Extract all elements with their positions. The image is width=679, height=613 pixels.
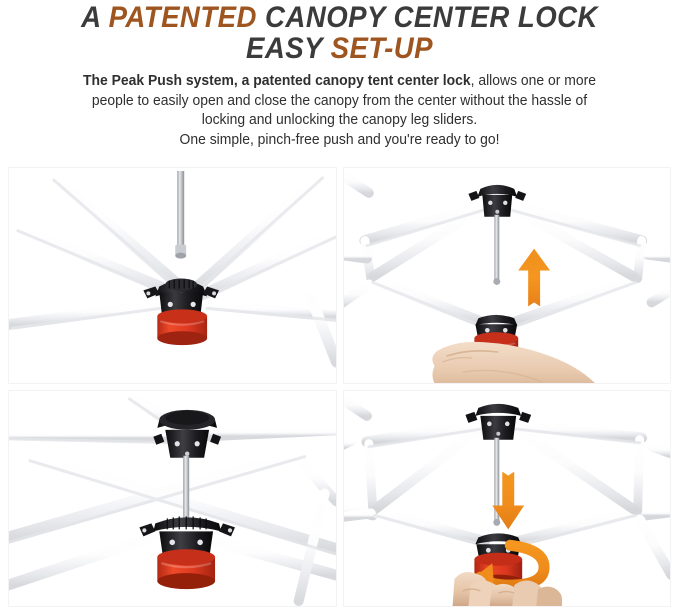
feature-image-grid: [8, 167, 671, 607]
headline-line2-prefix: EASY: [246, 32, 331, 65]
panel-top-left-illustration: [8, 167, 337, 384]
panel-bottom-right: [343, 390, 672, 607]
headline-line1-prefix: A: [81, 1, 108, 34]
headline-line1-suffix: CANOPY CENTER LOCK: [257, 1, 598, 34]
panel-top-right-illustration: [343, 167, 672, 384]
description-line-3: locking and unlocking the canopy leg sli…: [39, 111, 641, 131]
panel-bottom-left: [8, 390, 337, 607]
headline-accent-setup: SET-UP: [331, 32, 433, 65]
product-feature-graphic: A PATENTED CANOPY CENTER LOCK EASY SET-U…: [0, 0, 679, 613]
description-line-4: One simple, pinch-free push and you're r…: [39, 131, 641, 151]
headline-accent-patented: PATENTED: [109, 1, 257, 34]
description-line1-rest: , allows one or more: [471, 73, 596, 89]
panel-top-left: [8, 167, 337, 384]
panel-top-right: [343, 167, 672, 384]
headline-line-1: A PATENTED CANOPY CENTER LOCK: [27, 2, 652, 33]
page-title: A PATENTED CANOPY CENTER LOCK EASY SET-U…: [27, 0, 652, 64]
panel-bottom-left-illustration: [8, 390, 337, 607]
description-line-2: people to easily open and close the cano…: [39, 92, 641, 112]
description-line1-bold: The Peak Push system, a patented canopy …: [83, 73, 471, 89]
panel-bottom-right-illustration: [343, 390, 672, 607]
description-line-1: The Peak Push system, a patented canopy …: [39, 72, 641, 92]
description-paragraph: The Peak Push system, a patented canopy …: [14, 72, 666, 150]
headline-line-2: EASY SET-UP: [27, 33, 652, 64]
